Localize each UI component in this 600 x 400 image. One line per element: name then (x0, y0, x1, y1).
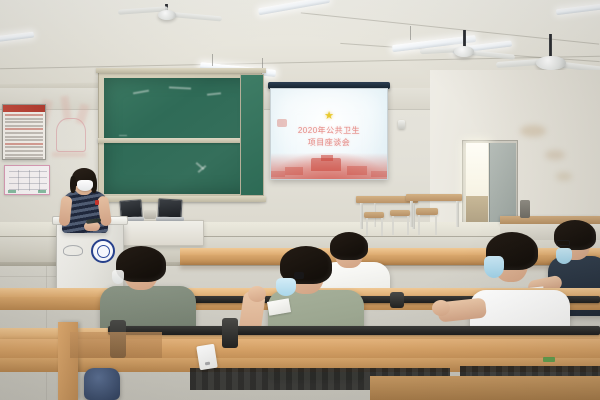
presenter-face-mask (77, 180, 93, 191)
slide-accent (277, 119, 287, 127)
eyeglasses-icon (556, 240, 570, 246)
classroom-photo: regulations-notice ★ 2020年公共卫生项目座谈会 (0, 0, 600, 400)
presenter-badge (95, 200, 99, 205)
pipe-fixture (520, 200, 530, 218)
school-emblem-icon (91, 239, 115, 263)
wall-poster-regulations (2, 104, 46, 160)
ceiling-fan (454, 46, 474, 57)
ceiling-fan (536, 56, 566, 70)
seat-hinge[interactable] (222, 318, 238, 348)
stage-table (406, 194, 462, 201)
light-rod (410, 26, 411, 40)
light-rod (212, 54, 213, 66)
wall-stain (545, 150, 565, 160)
projection-screen: ★ 2020年公共卫生项目座谈会 (270, 88, 388, 180)
poster-header (3, 105, 45, 112)
phone-on-desk[interactable] (196, 344, 218, 371)
blackboard-surface (104, 78, 256, 194)
door-panel[interactable] (489, 143, 516, 223)
green-marker (543, 357, 555, 362)
desk-item (144, 210, 156, 219)
laptop-screen[interactable] (158, 198, 183, 218)
student-center-near-mask (276, 278, 296, 296)
slide-skyline-graphic (271, 153, 387, 179)
chalk-rail (98, 138, 262, 143)
bench-desk-front (370, 376, 600, 400)
student-right-white-hand (432, 300, 450, 316)
bench-shelf (70, 332, 162, 358)
poster-body (5, 114, 43, 157)
slide-emblem-icon: ★ (324, 111, 334, 122)
laptop-base[interactable] (156, 217, 184, 221)
wall-stain (520, 125, 546, 137)
podium-decal (63, 245, 83, 256)
student-center-far-hair (330, 232, 368, 260)
backpack[interactable] (84, 368, 120, 400)
student-front-left-mask (112, 270, 124, 284)
slide-title-text: 2020年公共卫生项目座谈会 (271, 125, 387, 149)
student-right-dark-mask (556, 248, 572, 264)
wall-poster-schedule (4, 165, 50, 195)
blackboard (98, 72, 262, 200)
student-right-white-mask (484, 256, 504, 278)
ceiling-fan (158, 10, 176, 20)
light-rod (262, 58, 263, 68)
wall-stain (556, 172, 572, 181)
blackboard-side-panel (240, 74, 264, 196)
wall-scribble (52, 152, 86, 157)
seat-folding-bar[interactable] (108, 326, 600, 335)
student-center-near-hand (248, 286, 266, 302)
stage-stool (416, 208, 438, 215)
presenter-hair (70, 176, 76, 193)
door-threshold-object (466, 196, 488, 224)
board-top-rail (96, 68, 266, 73)
wall-fixture (398, 120, 405, 129)
seat-hinge[interactable] (390, 292, 404, 308)
eyeglasses-icon (294, 272, 304, 279)
